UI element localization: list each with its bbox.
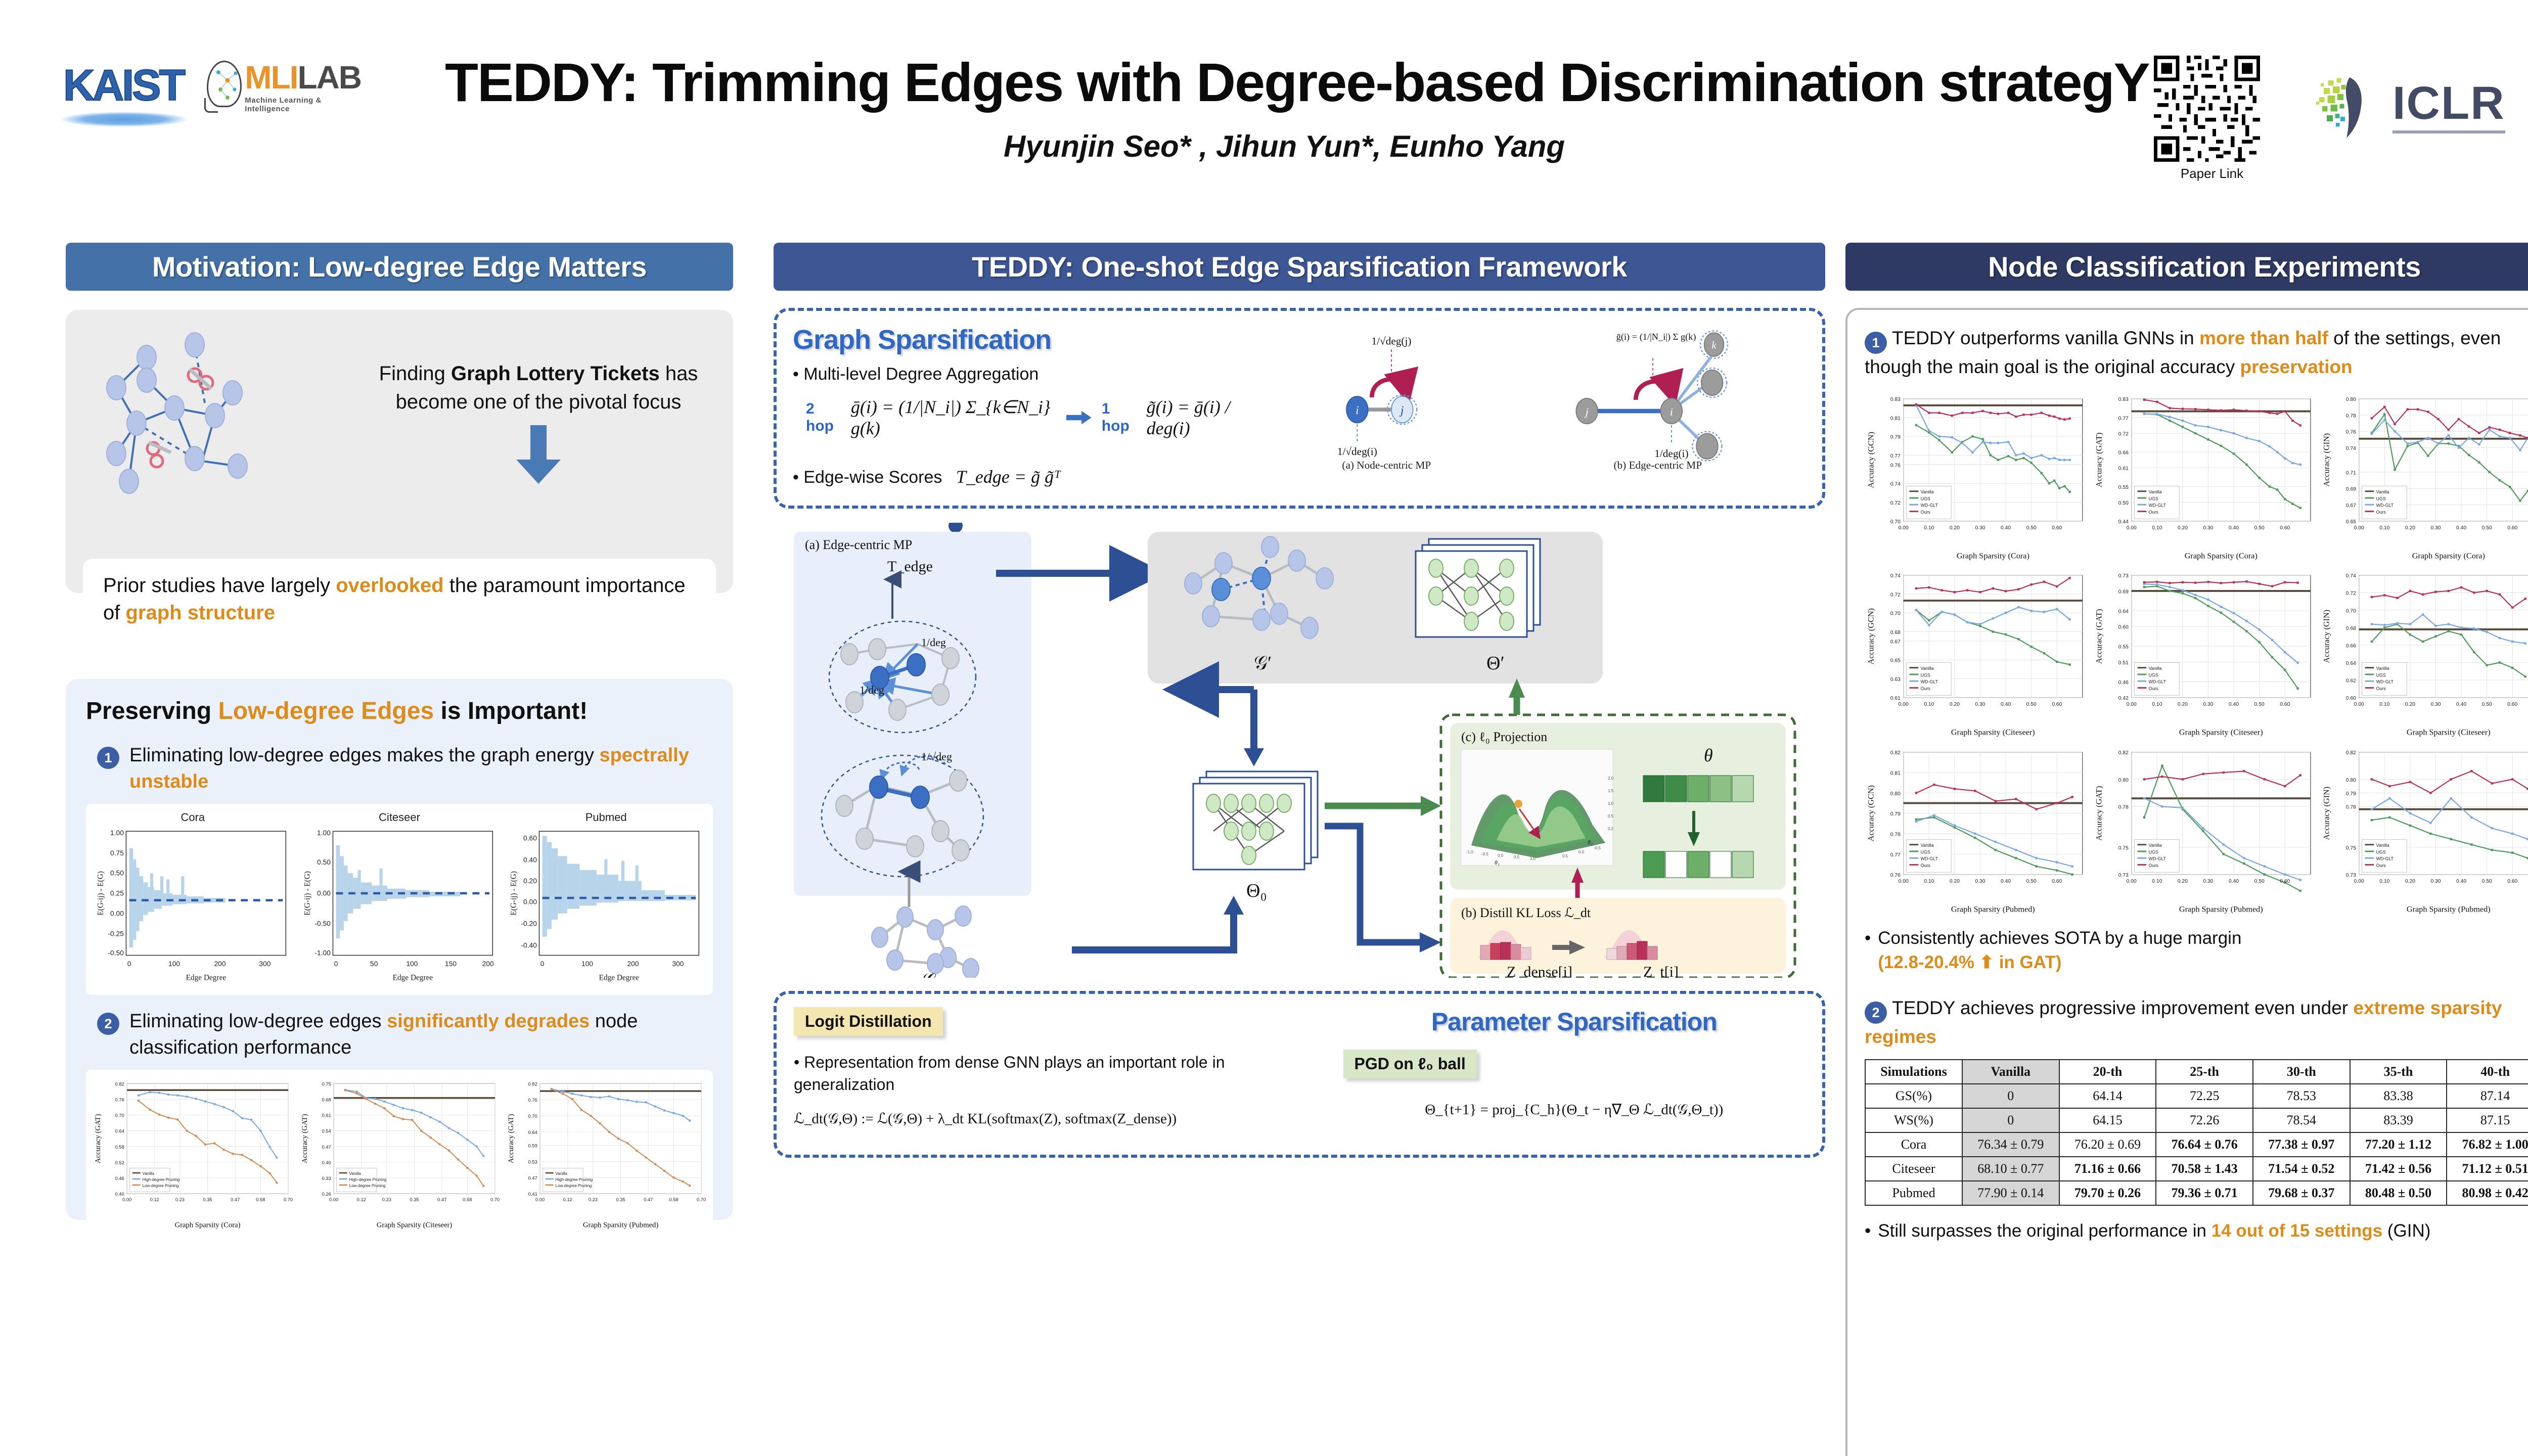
right-bullet-badge-1: 1 <box>1865 332 1887 354</box>
framework-flow-diagram: (a) Edge-centric MP T_edge <box>774 523 1825 978</box>
svg-text:0.20: 0.20 <box>2405 879 2415 884</box>
svg-text:0.50: 0.50 <box>2118 500 2128 506</box>
svg-text:Vanilla: Vanilla <box>349 1171 361 1176</box>
flow-label-Theta0: Θ₀ <box>1246 880 1267 901</box>
svg-text:WD-GLT: WD-GLT <box>1921 679 1938 685</box>
svg-text:UGS: UGS <box>2376 496 2386 501</box>
svg-text:0.68: 0.68 <box>2346 626 2356 631</box>
svg-text:UGS: UGS <box>2148 849 2158 854</box>
svg-text:0.77: 0.77 <box>1890 852 1901 858</box>
svg-text:Vanilla: Vanilla <box>556 1171 568 1176</box>
svg-text:0.00: 0.00 <box>110 909 124 917</box>
svg-text:1.0: 1.0 <box>1608 801 1614 806</box>
svg-text:0.58: 0.58 <box>256 1197 265 1202</box>
svg-text:0.69: 0.69 <box>2118 589 2128 595</box>
svg-text:0.83: 0.83 <box>2118 397 2128 402</box>
svg-text:Accuracy (GAT): Accuracy (GAT) <box>2094 432 2103 487</box>
svg-text:WD-GLT: WD-GLT <box>1921 503 1938 508</box>
svg-text:0.42: 0.42 <box>2118 696 2128 702</box>
qr-code-icon[interactable] <box>2154 56 2260 162</box>
motivation-statement: Finding Graph Lottery Tickets has become… <box>364 327 713 486</box>
svg-text:0.58: 0.58 <box>115 1145 124 1150</box>
svg-text:0.77: 0.77 <box>1890 453 1901 459</box>
down-arrow-icon <box>508 425 569 486</box>
qr-caption: Paper Link <box>2154 166 2270 181</box>
chart-main-pubmed-gat: 0.730.750.780.800.820.000.100.200.300.40… <box>2093 745 2317 916</box>
svg-text:0.00: 0.00 <box>2126 525 2136 531</box>
svg-text:0.47: 0.47 <box>322 1145 331 1150</box>
chart-main-pubmed-gin: 0.730.750.780.790.800.820.000.100.200.30… <box>2320 745 2528 916</box>
svg-text:0.61: 0.61 <box>322 1113 331 1118</box>
svg-text:0.47: 0.47 <box>528 1175 537 1180</box>
svg-text:Accuracy (GAT): Accuracy (GAT) <box>301 1114 309 1163</box>
svg-text:0.50: 0.50 <box>317 858 331 866</box>
svg-text:0.60: 0.60 <box>2052 702 2062 707</box>
svg-text:0.00: 0.00 <box>122 1197 131 1202</box>
svg-text:0: 0 <box>127 960 131 968</box>
svg-text:High-degree Pruning: High-degree Pruning <box>556 1177 593 1182</box>
eq-2hop: ḡ(i) = (1/|N_i|) Σ_{k∈N_i} g(k) <box>851 396 1058 439</box>
svg-text:0.70: 0.70 <box>1890 611 1901 617</box>
svg-text:High-degree Pruning: High-degree Pruning <box>143 1177 180 1182</box>
svg-text:0.70: 0.70 <box>697 1197 706 1202</box>
paper-link-qr-block[interactable]: Paper Link <box>2154 56 2270 181</box>
lb-c: (GIN) <box>2382 1221 2430 1241</box>
flow-label-edge-centric: (a) Edge-centric MP <box>805 537 912 552</box>
chart-prune-pubmed: 0.410.470.530.590.640.700.760.820.000.12… <box>505 1077 707 1232</box>
svg-text:WD-GLT: WD-GLT <box>2376 679 2394 685</box>
svg-text:0.40: 0.40 <box>2456 702 2466 707</box>
sota-bullet: • Consistently achieves SOTA by a huge m… <box>1865 926 2528 975</box>
author-list: Hyunjin Seo* , Jihun Yun*, Eunho Yang <box>445 129 2124 164</box>
svg-text:ḡ(i) = (1/|N_i|) Σ g(k): ḡ(i) = (1/|N_i|) Σ g(k) <box>1616 332 1696 342</box>
svg-text:1.00: 1.00 <box>317 829 331 837</box>
mlilab-logo-lab: LAB <box>297 59 361 96</box>
table-row: GS(%)064.1472.2578.5383.3887.14 <box>1865 1084 2528 1108</box>
svg-text:0.80: 0.80 <box>1890 791 1901 797</box>
svg-text:0.68: 0.68 <box>1890 630 1901 635</box>
svg-text:Edge Degree: Edge Degree <box>392 974 433 982</box>
svg-text:i: i <box>1356 404 1359 417</box>
svg-text:1/√deg(i): 1/√deg(i) <box>1337 445 1377 458</box>
svg-text:0.60: 0.60 <box>2508 525 2518 531</box>
svg-text:0.65: 0.65 <box>1890 658 1901 664</box>
table-row: Cora76.34 ± 0.7976.20 ± 0.6976.64 ± 0.76… <box>1865 1132 2528 1157</box>
svg-text:1.5: 1.5 <box>1608 789 1614 793</box>
preserving-low-degree-card: Preserving Low-degree Edges is Important… <box>66 679 733 1220</box>
preserve-title-c: is Important! <box>434 698 588 724</box>
table-row: Citeseer68.10 ± 0.7771.16 ± 0.6670.58 ± … <box>1865 1157 2528 1181</box>
svg-text:WD-GLT: WD-GLT <box>2376 503 2394 508</box>
flow-label-zt: Z_t[i] <box>1643 964 1679 978</box>
results-col-header: 20-th <box>2059 1060 2156 1084</box>
flow-label-deg-sqrt: 1/√deg <box>921 750 952 763</box>
svg-text:Graph Sparsity (Cora): Graph Sparsity (Cora) <box>2412 552 2485 561</box>
svg-text:100: 100 <box>168 960 180 968</box>
table-row: Pubmed77.90 ± 0.1479.70 ± 0.2679.36 ± 0.… <box>1865 1181 2528 1205</box>
svg-text:-0.50: -0.50 <box>108 949 124 957</box>
svg-text:Low-degree Pruning: Low-degree Pruning <box>143 1184 179 1188</box>
svg-text:0.12: 0.12 <box>563 1197 572 1202</box>
svg-text:0.20: 0.20 <box>1950 879 1960 884</box>
results-cell: 0 <box>1962 1108 2059 1132</box>
chart-main-cora-gcn: 0.700.720.740.760.770.790.810.830.000.10… <box>1865 391 2089 563</box>
svg-text:0.23: 0.23 <box>175 1197 185 1202</box>
svg-text:0.40: 0.40 <box>2456 525 2466 531</box>
svg-text:0.54: 0.54 <box>322 1129 331 1134</box>
svg-text:WD-GLT: WD-GLT <box>2148 679 2166 685</box>
rb1-a: TEDDY outperforms vanilla GNNs in <box>1892 328 2199 348</box>
svg-text:0.79: 0.79 <box>1890 435 1901 440</box>
chart-prune-cora: 0.400.460.520.580.640.700.760.820.000.12… <box>92 1077 294 1232</box>
flow-label-kl: (b) Distill KL Loss ℒ_dt <box>1461 905 1591 920</box>
svg-text:0.10: 0.10 <box>2152 879 2162 884</box>
svg-text:0.20: 0.20 <box>1950 702 1960 707</box>
svg-text:0.79: 0.79 <box>2346 791 2356 797</box>
results-row-label: Citeseer <box>1865 1157 1962 1181</box>
svg-text:0.0: 0.0 <box>1578 850 1585 854</box>
svg-text:Graph Sparsity (Citeseer): Graph Sparsity (Citeseer) <box>1951 728 2035 737</box>
results-cell: 87.14 <box>2447 1084 2528 1108</box>
rb2-a: TEDDY achieves progressive improvement e… <box>1892 997 2353 1018</box>
svg-text:0.46: 0.46 <box>115 1176 124 1181</box>
svg-text:0.40: 0.40 <box>115 1192 124 1197</box>
svg-text:0.40: 0.40 <box>2229 879 2239 884</box>
svg-text:0.40: 0.40 <box>322 1160 331 1165</box>
svg-text:100: 100 <box>406 960 418 968</box>
motivation-text-bold: Graph Lottery Tickets <box>451 362 660 385</box>
svg-text:0.80: 0.80 <box>2118 778 2128 783</box>
right-bullet-badge-2: 2 <box>1865 1002 1887 1024</box>
svg-text:0.55: 0.55 <box>2118 645 2128 650</box>
hop2-label: 2 hop <box>806 400 842 435</box>
logit-equation: ℒ_dt(𝒢,Θ) := ℒ(𝒢,Θ) + λ_dt KL(softmax(Z)… <box>794 1110 1325 1127</box>
results-cell: 64.15 <box>2059 1108 2156 1132</box>
chart-energy-pubmed: Pubmed <box>505 811 707 988</box>
results-cell: 72.25 <box>2156 1084 2253 1108</box>
svg-text:0.78: 0.78 <box>2346 804 2356 810</box>
motivation-card: Finding Graph Lottery Tickets has become… <box>66 310 733 593</box>
svg-text:0.71: 0.71 <box>2346 470 2356 476</box>
chart-main-pubmed-gcn: 0.760.770.780.790.800.810.820.000.100.20… <box>1865 745 2089 916</box>
last-bullet-dot: • <box>1865 1219 1871 1243</box>
svg-text:0.00: 0.00 <box>2354 525 2364 531</box>
pruning-charts-row: 0.400.460.520.580.640.700.760.820.000.12… <box>92 1077 707 1232</box>
svg-text:300: 300 <box>672 960 684 968</box>
svg-text:0.5: 0.5 <box>1514 855 1520 859</box>
logit-bullet-text: Representation from dense GNN plays an i… <box>794 1053 1225 1094</box>
svg-text:Graph Sparsity (Cora): Graph Sparsity (Cora) <box>2184 552 2257 561</box>
bullet-2-a: Eliminating low-degree edges <box>129 1011 387 1032</box>
svg-text:0.74: 0.74 <box>2346 446 2356 451</box>
svg-text:Ours: Ours <box>2376 510 2386 515</box>
svg-text:0.76: 0.76 <box>1890 463 1901 468</box>
svg-text:0.74: 0.74 <box>1890 574 1901 579</box>
svg-text:Vanilla: Vanilla <box>2148 489 2161 494</box>
svg-text:0.73: 0.73 <box>2346 873 2356 878</box>
eq-1hop: g̃(i) = ḡ(i) / deg(i) <box>1147 396 1263 439</box>
results-row-label: Pubmed <box>1865 1181 1962 1205</box>
svg-text:0.76: 0.76 <box>528 1098 537 1103</box>
results-cell: 77.90 ± 0.14 <box>1962 1181 2059 1205</box>
mlilab-logo: MLILAB Machine Learning & Intelligence <box>207 61 364 124</box>
column-motivation: Motivation: Low-degree Edge Matters <box>66 243 733 1220</box>
svg-text:0.77: 0.77 <box>2118 416 2128 421</box>
svg-text:0.73: 0.73 <box>2118 574 2128 579</box>
graph-sparsification-title: Graph Sparsification <box>793 324 1263 355</box>
svg-text:Accuracy (GCN): Accuracy (GCN) <box>1867 609 1876 665</box>
results-cell: 80.48 ± 0.50 <box>2350 1181 2447 1205</box>
svg-text:0.30: 0.30 <box>2431 525 2441 531</box>
svg-text:0.61: 0.61 <box>2118 466 2128 472</box>
iclr-mark-icon <box>2306 68 2381 144</box>
svg-text:0.61: 0.61 <box>1890 696 1901 702</box>
svg-text:300: 300 <box>259 960 270 968</box>
results-col-header: 40-th <box>2447 1060 2528 1084</box>
svg-text:Accuracy (GCN): Accuracy (GCN) <box>1867 432 1876 488</box>
flow-label-l0: (c) ℓ₀ Projection <box>1461 730 1547 744</box>
results-cell: 79.36 ± 0.71 <box>2156 1181 2253 1205</box>
prior-d-highlight: graph structure <box>125 602 275 624</box>
flow-label-theta: θ <box>1704 745 1713 765</box>
svg-text:θ₁: θ₁ <box>1495 859 1500 866</box>
results-cell: 76.82 ± 1.00 <box>2447 1132 2528 1157</box>
svg-text:0.70: 0.70 <box>115 1113 124 1118</box>
svg-text:0.33: 0.33 <box>322 1176 331 1181</box>
iclr-wordmark: ICLR <box>2392 79 2505 133</box>
svg-text:1/deg: 1/deg <box>921 636 946 649</box>
mp-caption-a: (a) Node-centric MP <box>1342 459 1431 471</box>
mlilab-logo-mli: MLI <box>245 59 297 96</box>
chart-energy-citeseer-title: Citeseer <box>299 811 501 824</box>
svg-text:0.12: 0.12 <box>356 1197 366 1202</box>
rb1-d-highlight: preservation <box>2240 356 2353 377</box>
chart-main-citeseer-gat: 0.420.460.510.550.600.640.690.730.000.10… <box>2093 568 2317 739</box>
svg-text:WD-GLT: WD-GLT <box>2148 856 2166 861</box>
results-cell: 64.14 <box>2059 1084 2156 1108</box>
svg-text:0.10: 0.10 <box>2380 525 2390 531</box>
svg-text:E(G-ij) - E(G): E(G-ij) - E(G) <box>96 871 105 916</box>
sota-bullet-body: Consistently achieves SOTA by a huge mar… <box>1878 926 2241 975</box>
svg-text:0.25: 0.25 <box>110 890 124 897</box>
results-col-header: Vanilla <box>1962 1060 2059 1084</box>
svg-text:0.81: 0.81 <box>1890 770 1901 776</box>
svg-text:0.47: 0.47 <box>644 1197 653 1202</box>
brain-head-icon <box>207 61 242 107</box>
svg-text:0.50: 0.50 <box>110 870 124 877</box>
svg-text:i: i <box>1670 405 1673 418</box>
svg-text:0.10: 0.10 <box>2380 702 2390 707</box>
results-cell: 80.98 ± 0.42 <box>2447 1181 2528 1205</box>
svg-text:0.00: 0.00 <box>1899 879 1909 884</box>
svg-text:0.75: 0.75 <box>2346 845 2356 851</box>
svg-text:0.10: 0.10 <box>1924 879 1934 884</box>
svg-text:0.78: 0.78 <box>2346 413 2356 419</box>
svg-text:Vanilla: Vanilla <box>2148 666 2161 671</box>
svg-text:0.30: 0.30 <box>2203 702 2213 707</box>
distillation-sparsification-panel: Logit Distillation • Representation from… <box>774 991 1825 1158</box>
svg-text:0.30: 0.30 <box>1975 702 1985 707</box>
pgd-equation: Θ_{t+1} = proj_{C_h}(Θ_t − η∇_Θ ℒ_dt(𝒢,Θ… <box>1343 1101 1805 1118</box>
bullet-multilevel-text: Multi-level Degree Aggregation <box>803 365 1039 384</box>
svg-text:-1.00: -1.00 <box>314 949 331 957</box>
poster-header: KAIST <box>0 0 2528 227</box>
svg-text:Vanilla: Vanilla <box>1921 489 1934 494</box>
svg-text:0.76: 0.76 <box>1890 873 1901 878</box>
svg-text:0.0: 0.0 <box>1498 853 1504 858</box>
sota-bullet-a: Consistently achieves SOTA by a huge mar… <box>1878 928 2241 948</box>
left-bullet-1: 1 Eliminating low-degree edges makes the… <box>97 742 713 795</box>
results-cell: 71.42 ± 0.56 <box>2350 1157 2447 1181</box>
svg-text:1/deg(i): 1/deg(i) <box>1654 447 1688 460</box>
bullet-1-text: Eliminating low-degree edges makes the g… <box>129 742 713 795</box>
svg-text:150: 150 <box>445 960 457 968</box>
svg-text:Ours: Ours <box>1921 863 1931 868</box>
svg-text:0.30: 0.30 <box>2431 702 2441 707</box>
kaist-logo: KAIST <box>63 62 190 123</box>
svg-text:0.20: 0.20 <box>523 877 537 885</box>
svg-text:0.00: 0.00 <box>329 1197 338 1202</box>
column-experiments: Node Classification Experiments 1TEDDY o… <box>1845 243 2528 1456</box>
lb-a: Still surpasses the original performance… <box>1878 1221 2211 1241</box>
results-cell: 0 <box>1962 1084 2059 1108</box>
experiments-chart-grid: 0.700.720.740.760.770.790.810.830.000.10… <box>1865 391 2528 916</box>
svg-text:Accuracy (GAT): Accuracy (GAT) <box>507 1114 515 1163</box>
flow-label-G-prime: 𝒢′ <box>1254 653 1272 674</box>
svg-text:0.20: 0.20 <box>2178 525 2188 531</box>
svg-text:0.82: 0.82 <box>528 1081 537 1086</box>
svg-text:Graph Sparsity (Pubmed): Graph Sparsity (Pubmed) <box>583 1221 658 1230</box>
svg-text:Graph Sparsity (Cora): Graph Sparsity (Cora) <box>175 1221 241 1230</box>
svg-text:0.40: 0.40 <box>2001 879 2011 884</box>
svg-text:0.00: 0.00 <box>1899 525 1909 531</box>
kaist-logo-text: KAIST <box>63 62 190 109</box>
svg-text:High-degree Pruning: High-degree Pruning <box>349 1177 386 1182</box>
energy-figure-group: Cora <box>86 804 713 995</box>
mp-caption-b: (b) Edge-centric MP <box>1613 459 1702 471</box>
flow-label-zdense: Z_dense[i] <box>1507 964 1572 978</box>
svg-text:0.00: 0.00 <box>523 898 537 905</box>
preserve-title: Preserving Low-degree Edges is Important… <box>86 697 713 725</box>
chart-main-cora-gin: 0.650.670.690.710.740.760.780.800.000.10… <box>2320 391 2528 563</box>
svg-text:200: 200 <box>627 960 639 968</box>
bullet-2-text: Eliminating low-degree edges significant… <box>129 1008 713 1061</box>
svg-text:-0.5: -0.5 <box>1481 852 1488 856</box>
svg-text:0.70: 0.70 <box>284 1197 293 1202</box>
svg-text:0.62: 0.62 <box>2346 678 2356 684</box>
results-table-body: GS(%)064.1472.2578.5383.3887.14WS(%)064.… <box>1865 1084 2528 1205</box>
results-cell: 79.68 ± 0.37 <box>2253 1181 2350 1205</box>
svg-text:UGS: UGS <box>2148 496 2158 501</box>
svg-text:0.52: 0.52 <box>115 1160 124 1165</box>
svg-text:0.66: 0.66 <box>2346 644 2356 649</box>
svg-text:Graph Sparsity (Citeseer): Graph Sparsity (Citeseer) <box>2407 728 2491 737</box>
svg-text:0.68: 0.68 <box>322 1097 331 1102</box>
svg-text:Ours: Ours <box>2376 863 2386 868</box>
svg-text:0.64: 0.64 <box>115 1129 124 1134</box>
svg-text:0.60: 0.60 <box>2508 702 2518 707</box>
chart-energy-cora: Cora <box>92 811 294 988</box>
results-row-label: Cora <box>1865 1132 1962 1157</box>
results-cell: 76.20 ± 0.69 <box>2059 1132 2156 1157</box>
svg-text:Accuracy (GAT): Accuracy (GAT) <box>2094 609 2103 664</box>
svg-text:WD-GLT: WD-GLT <box>1921 856 1938 861</box>
svg-text:0.78: 0.78 <box>2118 804 2128 810</box>
svg-text:-0.5: -0.5 <box>1594 846 1601 850</box>
svg-text:1.0: 1.0 <box>1530 856 1536 861</box>
svg-text:0.80: 0.80 <box>2346 778 2356 783</box>
last-bullet-body: Still surpasses the original performance… <box>1878 1219 2430 1243</box>
svg-text:0.75: 0.75 <box>110 849 124 857</box>
svg-text:0.65: 0.65 <box>2346 519 2356 525</box>
svg-text:0.60: 0.60 <box>2346 696 2356 702</box>
svg-text:0.60: 0.60 <box>2052 879 2062 884</box>
svg-text:Vanilla: Vanilla <box>2148 843 2161 848</box>
svg-text:0.41: 0.41 <box>528 1192 537 1197</box>
svg-text:Ours: Ours <box>2148 863 2158 868</box>
mp-diagrams: 1/√deg(j) i j 1/√deg( <box>1270 324 1806 492</box>
svg-text:0.76: 0.76 <box>2346 430 2356 435</box>
results-cell: 76.64 ± 0.76 <box>2156 1132 2253 1157</box>
svg-text:0.20: 0.20 <box>1950 525 1960 531</box>
svg-text:0.30: 0.30 <box>2431 879 2441 884</box>
svg-text:0.80: 0.80 <box>2346 397 2356 402</box>
results-table: SimulationsVanilla20-th25-th30-th35-th40… <box>1865 1059 2528 1206</box>
svg-text:Vanilla: Vanilla <box>1921 843 1934 848</box>
svg-text:0.5: 0.5 <box>1562 854 1568 858</box>
chart-energy-cora-xlabel: Edge Degree <box>186 974 227 982</box>
neural-dots-icon <box>212 67 236 101</box>
graph-sparsification-panel: Graph Sparsification • Multi-level Degre… <box>774 308 1825 509</box>
svg-text:200: 200 <box>214 960 226 968</box>
svg-text:0.50: 0.50 <box>2026 702 2037 707</box>
svg-text:0.10: 0.10 <box>1924 702 1934 707</box>
chart-prune-citeseer: 0.260.330.400.470.540.610.680.750.000.12… <box>299 1077 501 1232</box>
results-cell: 71.16 ± 0.66 <box>2059 1157 2156 1181</box>
svg-text:Ours: Ours <box>1921 510 1931 515</box>
svg-text:0.50: 0.50 <box>2254 702 2264 707</box>
results-cell: 83.39 <box>2350 1108 2447 1132</box>
flow-label-G: 𝒢 <box>923 970 936 978</box>
chart-main-citeseer-gcn: 0.610.630.650.670.680.700.720.740.000.10… <box>1865 568 2089 739</box>
svg-text:0.82: 0.82 <box>1890 750 1901 756</box>
svg-text:0.10: 0.10 <box>2152 525 2162 531</box>
svg-text:0.53: 0.53 <box>528 1159 537 1164</box>
svg-text:0.00: 0.00 <box>2126 702 2136 707</box>
svg-text:0.70: 0.70 <box>490 1197 500 1202</box>
svg-text:0.64: 0.64 <box>528 1130 537 1135</box>
experiments-card: 1TEDDY outperforms vanilla GNNs in more … <box>1845 308 2528 1456</box>
svg-text:0.72: 0.72 <box>1890 593 1901 598</box>
svg-text:Accuracy (GAT): Accuracy (GAT) <box>94 1114 102 1163</box>
svg-text:0.83: 0.83 <box>1890 397 1901 402</box>
svg-text:E(G-ij) - E(G): E(G-ij) - E(G) <box>303 871 311 916</box>
svg-text:1.00: 1.00 <box>110 829 124 837</box>
chart-energy-pubmed-title: Pubmed <box>505 811 707 824</box>
svg-text:Graph Sparsity (Citeseer): Graph Sparsity (Citeseer) <box>2179 728 2263 737</box>
mlilab-logo-subtitle: Machine Learning & Intelligence <box>245 96 364 113</box>
svg-text:0.00: 0.00 <box>535 1197 545 1202</box>
svg-text:UGS: UGS <box>1921 496 1930 501</box>
bullet-badge-2: 2 <box>97 1013 119 1035</box>
logit-distillation-tag: Logit Distillation <box>794 1007 943 1036</box>
svg-text:Accuracy (GIN): Accuracy (GIN) <box>2322 610 2331 663</box>
svg-text:Ours: Ours <box>2376 686 2386 691</box>
svg-text:100: 100 <box>581 960 593 968</box>
svg-text:0.67: 0.67 <box>2346 503 2356 509</box>
svg-text:θ₂: θ₂ <box>1588 839 1593 846</box>
svg-text:0.20: 0.20 <box>2178 702 2188 707</box>
